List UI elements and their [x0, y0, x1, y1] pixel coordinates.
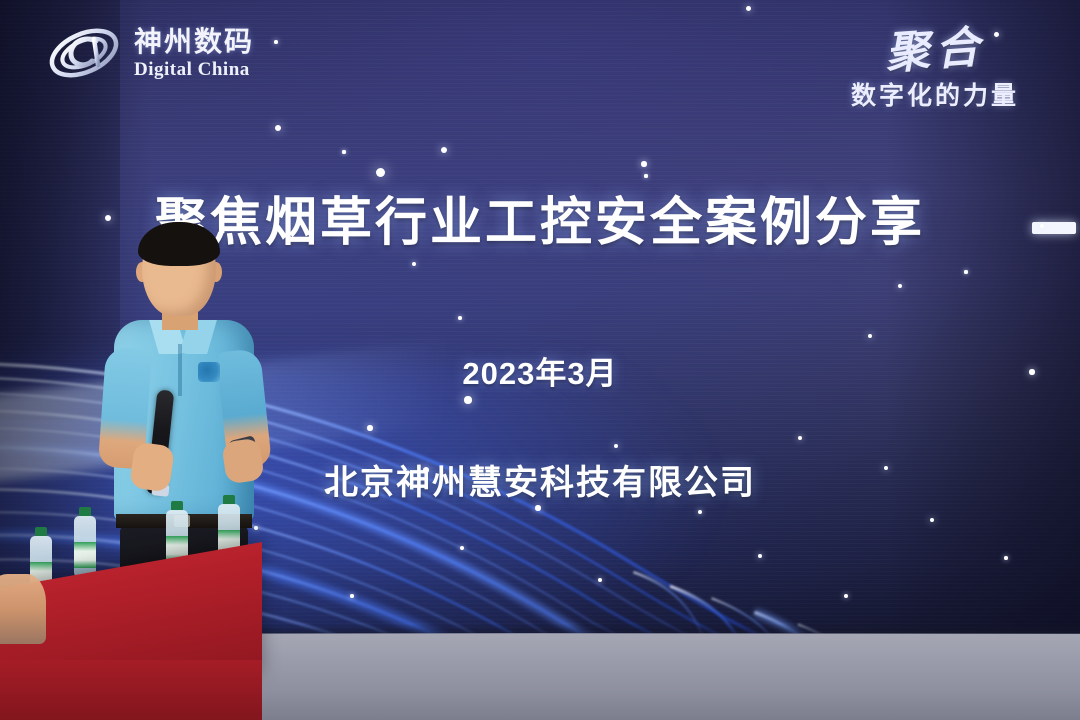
speaker-shirt-placket [178, 344, 182, 396]
speaker-hand-holding-mic [129, 441, 175, 492]
digital-china-logo: 神州数码 Digital China [44, 18, 324, 88]
foreground-attendee [0, 574, 46, 644]
red-table-cloth-front [0, 660, 262, 720]
theme-subtitle-cn: 数字化的力量 [810, 76, 1060, 112]
event-theme-logo: 聚合 数字化的力量 [810, 14, 1060, 114]
theme-title-cn: 聚合 [883, 11, 987, 82]
conference-stage-photo: 神州数码 Digital China 聚合 数字化的力量 聚焦烟草行业工控安全案… [0, 0, 1080, 720]
swirl-logo-icon [44, 21, 124, 85]
speaker-chest-logo-icon [198, 362, 220, 382]
speaker-hair [138, 222, 220, 266]
brand-name-cn: 神州数码 [134, 28, 254, 56]
screen-edge-light [1032, 222, 1076, 234]
water-bottle [74, 516, 96, 578]
speaker-hand-holding-clicker [221, 438, 264, 485]
brand-name-en: Digital China [134, 60, 254, 79]
